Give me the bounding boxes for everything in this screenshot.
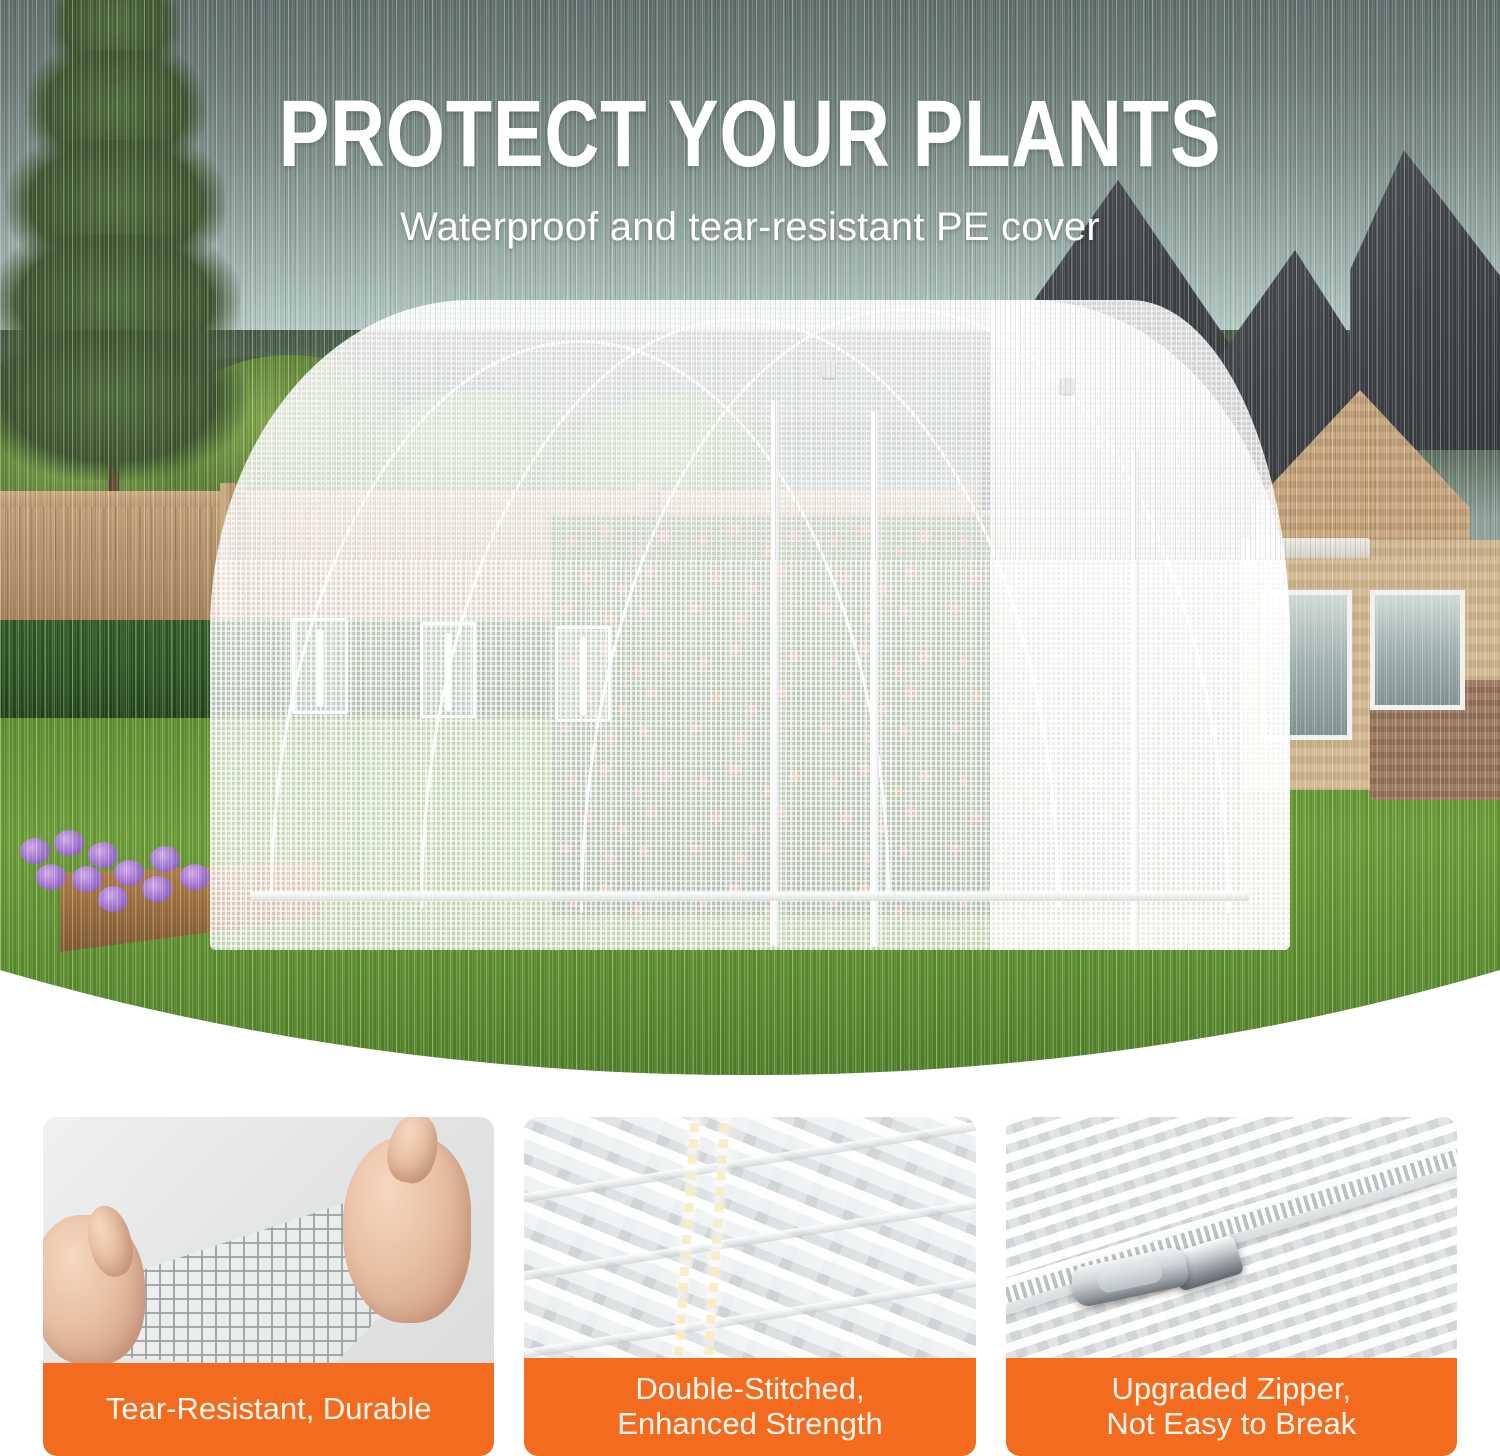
roll-up-window-flap [292, 618, 348, 714]
flower [150, 846, 180, 872]
flower [142, 876, 172, 902]
feature-panel-tear-resistant[interactable]: Tear-Resistant, Durable [43, 1117, 494, 1456]
house-window [1370, 590, 1465, 710]
frame-post [770, 400, 779, 945]
panel-caption-upgraded-zipper: Upgraded Zipper, Not Easy to Break [1006, 1358, 1457, 1456]
feature-panel-upgraded-zipper[interactable]: Upgraded Zipper, Not Easy to Break [1006, 1117, 1457, 1456]
headline-container: PROTECT YOUR PLANTS [0, 88, 1500, 181]
tunnel-greenhouse [210, 300, 1290, 960]
greenhouse-front-arch [990, 300, 1290, 950]
roll-up-window-flap [420, 622, 476, 718]
flower [98, 886, 128, 912]
caption-line: Not Easy to Break [1106, 1406, 1356, 1441]
flower [114, 860, 144, 886]
flower [36, 864, 66, 890]
caption-line: Double-Stitched, [635, 1371, 864, 1406]
panel-image-tear-resistant [43, 1117, 494, 1363]
flower [88, 842, 118, 868]
flower [20, 838, 50, 864]
flower [72, 866, 102, 892]
caption-line: Upgraded Zipper, [1112, 1371, 1352, 1406]
panel-image-double-stitched [524, 1117, 975, 1358]
feature-panels: Tear-Resistant, Durable Double-Stitched,… [0, 1117, 1500, 1456]
caption-line: Enhanced Strength [617, 1406, 882, 1441]
flower [180, 864, 210, 890]
frame-post [870, 412, 879, 947]
page-subtitle: Waterproof and tear-resistant PE cover [0, 205, 1500, 250]
flower [54, 830, 84, 856]
caption-line: Tear-Resistant, Durable [106, 1391, 432, 1426]
purple-flowers [10, 830, 230, 910]
roof-clip [822, 362, 836, 378]
roll-up-window-flap [555, 626, 611, 722]
frame-post [1130, 450, 1139, 950]
roof-clip [1060, 378, 1074, 394]
feature-panel-double-stitched[interactable]: Double-Stitched, Enhanced Strength [524, 1117, 975, 1456]
panel-caption-tear-resistant: Tear-Resistant, Durable [43, 1363, 494, 1456]
page-title: PROTECT YOUR PLANTS [150, 88, 1350, 181]
panel-caption-double-stitched: Double-Stitched, Enhanced Strength [524, 1358, 975, 1456]
base-rail [250, 892, 1250, 901]
panel-image-upgraded-zipper [1006, 1117, 1457, 1358]
